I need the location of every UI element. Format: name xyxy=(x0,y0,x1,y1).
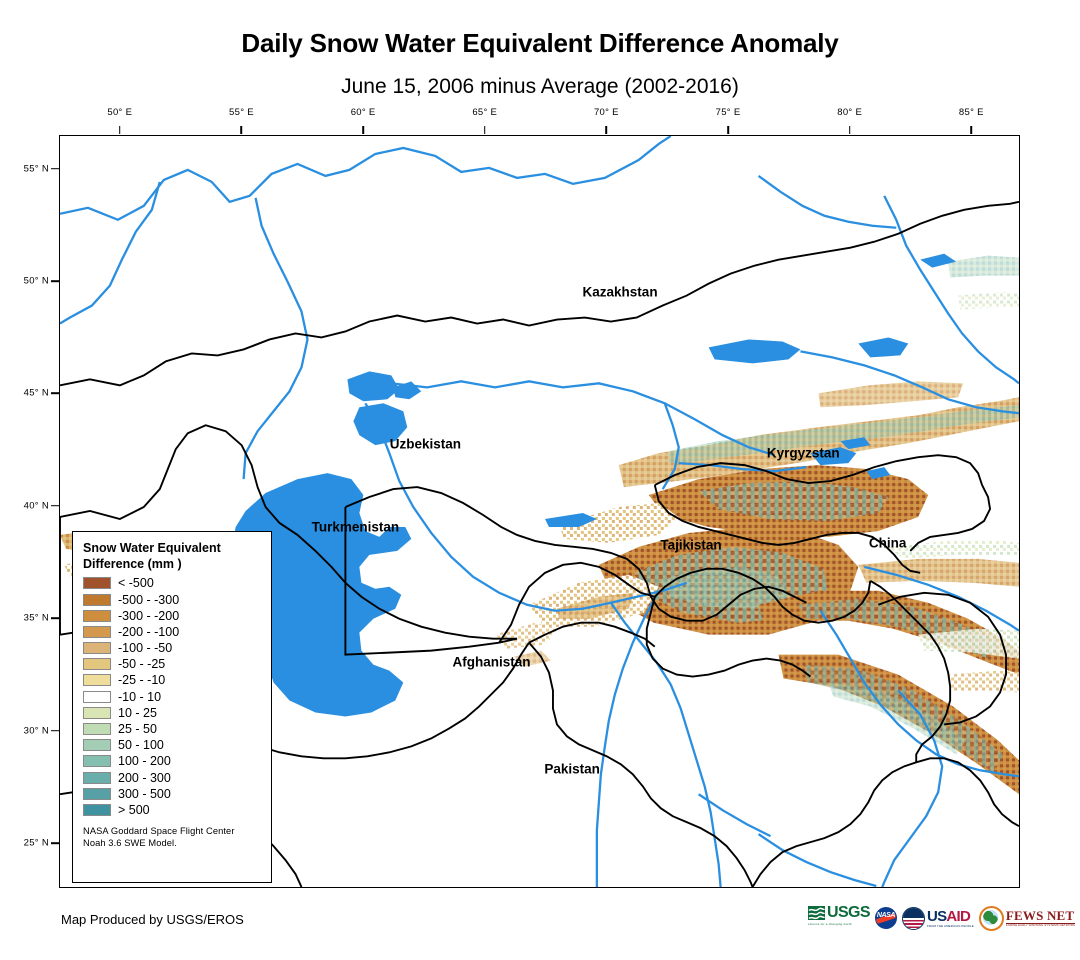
usgs-logo[interactable]: USGS science for a changing world xyxy=(808,905,870,931)
legend-row: > 500 xyxy=(82,802,262,818)
legend-class-label: -100 - -50 xyxy=(118,641,172,655)
legend-row: 300 - 500 xyxy=(82,786,262,802)
longitude-tick-mark xyxy=(606,126,608,134)
longitude-tick-mark xyxy=(119,126,121,134)
legend-color-swatch xyxy=(83,707,111,719)
latitude-tick-label: 30° N xyxy=(13,725,49,736)
latitude-tick-label: 45° N xyxy=(13,388,49,399)
legend-class-list: < -500-500 - -300-300 - -200-200 - -100-… xyxy=(82,575,262,818)
latitude-tick-mark xyxy=(51,168,59,170)
legend-class-label: -25 - -10 xyxy=(118,673,165,687)
legend-class-label: > 500 xyxy=(118,803,150,817)
legend-source-note: NASA Goddard Space Flight Center Noah 3.… xyxy=(83,825,262,849)
page-subtitle: June 15, 2006 minus Average (2002-2016) xyxy=(0,75,1080,99)
longitude-tick-mark xyxy=(849,126,851,134)
page-title: Daily Snow Water Equivalent Difference A… xyxy=(0,28,1080,59)
legend-row: -25 - -10 xyxy=(82,672,262,688)
longitude-tick-mark xyxy=(971,126,973,134)
latitude-tick-mark xyxy=(51,393,59,395)
usaid-seal-icon xyxy=(902,907,925,930)
legend-color-swatch xyxy=(83,674,111,686)
map-legend[interactable]: Snow Water Equivalent Difference (mm ) <… xyxy=(72,531,272,883)
latitude-tick-mark xyxy=(51,617,59,619)
longitude-tick-label: 50° E xyxy=(107,107,132,118)
longitude-tick-mark xyxy=(362,126,364,134)
legend-color-swatch xyxy=(83,739,111,751)
legend-color-swatch xyxy=(83,691,111,703)
legend-class-label: 25 - 50 xyxy=(118,722,157,736)
legend-row: 200 - 300 xyxy=(82,770,262,786)
legend-class-label: 10 - 25 xyxy=(118,706,157,720)
legend-class-label: -50 - -25 xyxy=(118,657,165,671)
legend-note-line1: NASA Goddard Space Flight Center xyxy=(83,825,262,837)
agency-logos: USGS science for a changing world NASA U… xyxy=(808,902,1075,934)
longitude-tick-label: 70° E xyxy=(594,107,619,118)
legend-title-line1: Snow Water Equivalent xyxy=(83,541,262,557)
country-label-kazakhstan: Kazakhstan xyxy=(583,285,658,300)
legend-class-label: -10 - 10 xyxy=(118,690,161,704)
legend-class-label: 200 - 300 xyxy=(118,771,171,785)
usgs-wordmark: USGS xyxy=(827,905,870,921)
longitude-tick-label: 80° E xyxy=(837,107,862,118)
nasa-logo[interactable]: NASA xyxy=(875,905,897,931)
longitude-tick-label: 65° E xyxy=(472,107,497,118)
nasa-wordmark: NASA xyxy=(875,912,897,919)
latitude-tick-mark xyxy=(51,280,59,282)
country-label-china: China xyxy=(869,536,907,551)
usgs-tagline: science for a changing world xyxy=(808,922,852,926)
longitude-tick-label: 55° E xyxy=(229,107,254,118)
latitude-tick-mark xyxy=(51,730,59,732)
legend-color-swatch xyxy=(83,804,111,816)
legend-color-swatch xyxy=(83,610,111,622)
country-label-tajikistan: Tajikistan xyxy=(660,538,721,553)
fews-tagline: FAMINE EARLY WARNING SYSTEMS NETWORK xyxy=(1006,923,1075,928)
legend-row: -100 - -50 xyxy=(82,640,262,656)
legend-row: 10 - 25 xyxy=(82,705,262,721)
legend-class-label: -500 - -300 xyxy=(118,593,179,607)
legend-class-label: -300 - -200 xyxy=(118,609,179,623)
fews-wordmark: FEWS NET xyxy=(1006,909,1075,922)
longitude-tick-label: 60° E xyxy=(351,107,376,118)
longitude-tick-label: 75° E xyxy=(716,107,741,118)
latitude-tick-label: 25° N xyxy=(13,838,49,849)
legend-row: -300 - -200 xyxy=(82,608,262,624)
legend-title-line2: Difference (mm ) xyxy=(83,557,262,573)
usaid-tagline: FROM THE AMERICAN PEOPLE xyxy=(927,925,974,928)
legend-row: -200 - -100 xyxy=(82,624,262,640)
longitude-tick-mark xyxy=(241,126,243,134)
country-label-afghanistan: Afghanistan xyxy=(453,654,531,669)
nasa-meatball-icon: NASA xyxy=(875,907,897,929)
legend-title: Snow Water Equivalent Difference (mm ) xyxy=(83,541,262,572)
longitude-tick-label: 85° E xyxy=(959,107,984,118)
legend-color-swatch xyxy=(83,658,111,670)
legend-class-label: 100 - 200 xyxy=(118,754,171,768)
latitude-tick-label: 40° N xyxy=(13,500,49,511)
legend-color-swatch xyxy=(83,723,111,735)
legend-row: -500 - -300 xyxy=(82,591,262,607)
latitude-tick-mark xyxy=(51,505,59,507)
country-label-turkmenistan: Turkmenistan xyxy=(312,520,400,535)
country-label-uzbekistan: Uzbekistan xyxy=(390,436,461,451)
legend-color-swatch xyxy=(83,626,111,638)
legend-color-swatch xyxy=(83,642,111,654)
usaid-wordmark: USAID xyxy=(927,909,974,924)
longitude-tick-mark xyxy=(727,126,729,134)
usgs-wave-icon xyxy=(808,906,825,920)
country-label-kyrgyzstan: Kyrgyzstan xyxy=(767,445,840,460)
legend-row: 50 - 100 xyxy=(82,737,262,753)
legend-row: 25 - 50 xyxy=(82,721,262,737)
latitude-tick-label: 55° N xyxy=(13,163,49,174)
country-label-pakistan: Pakistan xyxy=(544,762,600,777)
legend-note-line2: Noah 3.6 SWE Model. xyxy=(83,837,262,849)
legend-class-label: -200 - -100 xyxy=(118,625,179,639)
legend-row: -10 - 10 xyxy=(82,689,262,705)
legend-class-label: < -500 xyxy=(118,576,154,590)
legend-color-swatch xyxy=(83,577,111,589)
fews-logo[interactable]: FEWS NET FAMINE EARLY WARNING SYSTEMS NE… xyxy=(979,905,1075,931)
legend-row: -50 - -25 xyxy=(82,656,262,672)
legend-color-swatch xyxy=(83,772,111,784)
longitude-tick-mark xyxy=(484,126,486,134)
latitude-tick-label: 50° N xyxy=(13,276,49,287)
legend-row: 100 - 200 xyxy=(82,753,262,769)
latitude-tick-mark xyxy=(51,842,59,844)
legend-color-swatch xyxy=(83,594,111,606)
legend-class-label: 50 - 100 xyxy=(118,738,164,752)
legend-color-swatch xyxy=(83,788,111,800)
latitude-tick-label: 35° N xyxy=(13,613,49,624)
usaid-logo[interactable]: USAID FROM THE AMERICAN PEOPLE xyxy=(902,905,974,931)
fews-globe-icon xyxy=(979,906,1004,931)
legend-color-swatch xyxy=(83,755,111,767)
legend-row: < -500 xyxy=(82,575,262,591)
map-credit: Map Produced by USGS/EROS xyxy=(61,912,244,927)
legend-class-label: 300 - 500 xyxy=(118,787,171,801)
